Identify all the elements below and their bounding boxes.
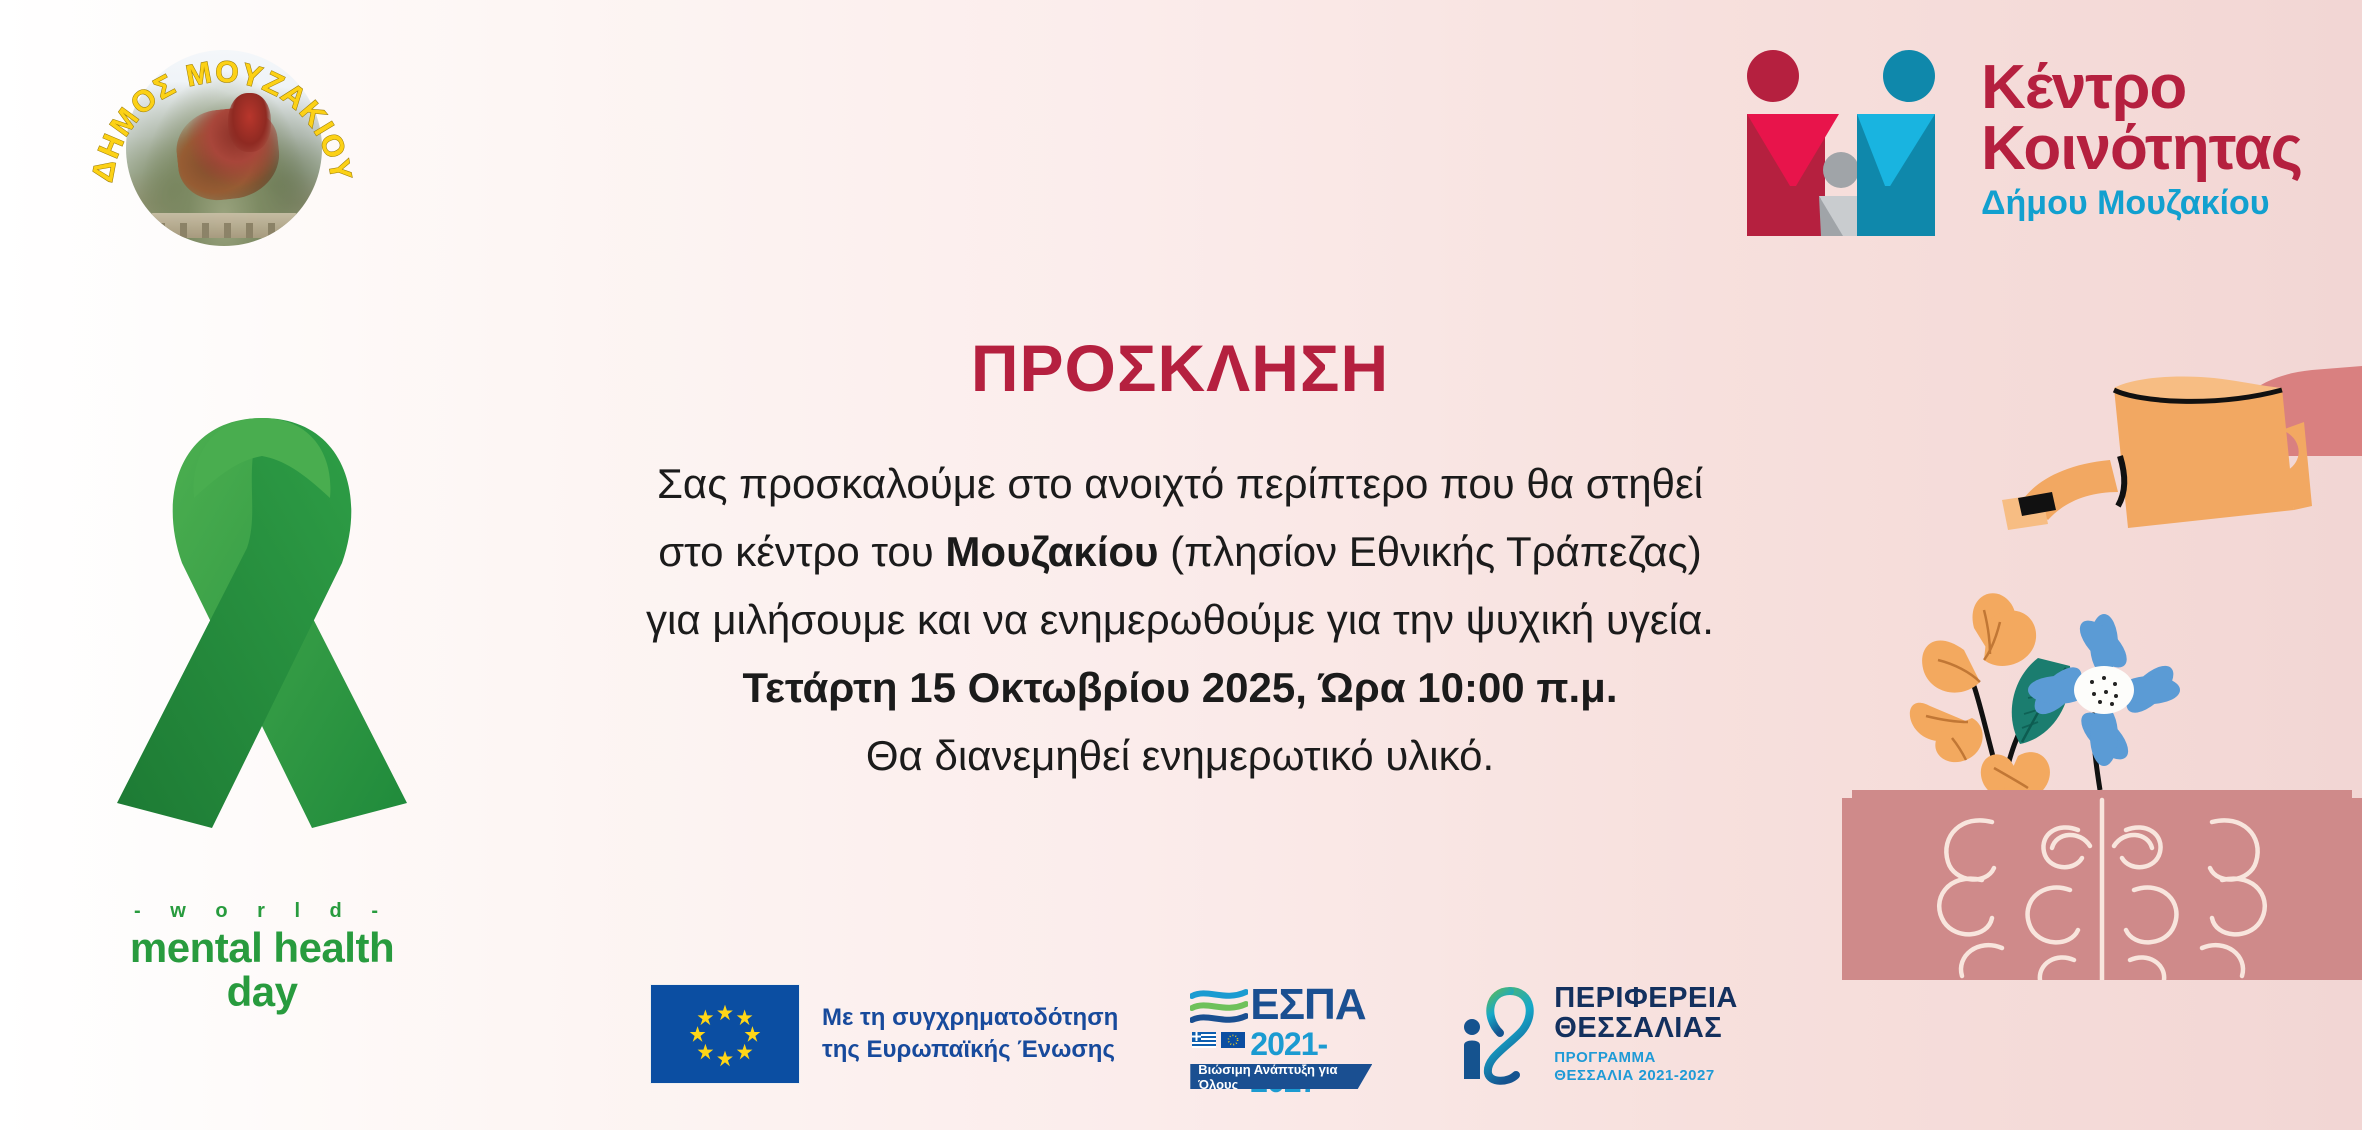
eu-mini-flag-icon [1221, 1032, 1245, 1048]
line2-place: Μουζακίου [945, 528, 1158, 575]
seal-arc-text: ΔΗΜΟΣ ΜΟΥΖΑΚΙΟΥ [86, 22, 358, 272]
region-line4: ΘΕΣΣΑΛΙΑ 2021-2027 [1554, 1067, 1738, 1085]
wmh-world-label: - w o r l d - [62, 900, 462, 923]
region-line3: ΠΡΟΓΡΑΜΜΑ [1554, 1049, 1738, 1067]
kk-line2: Κοινότητας [1981, 119, 2302, 180]
espa-mini-flags [1192, 1032, 1245, 1048]
seal-name-text: ΔΗΜΟΣ ΜΟΥΖΑΚΙΟΥ [86, 56, 358, 185]
eu-text-line2: της Ευρωπαϊκής Ένωσης [822, 1034, 1118, 1066]
espa-name: ΕΣΠΑ [1250, 980, 1365, 1030]
kk-logo-text: Κέντρο Κοινότητας Δήμου Μουζακίου [1981, 46, 2302, 223]
watering-can-brain-flowers-illustration [1842, 360, 2362, 980]
invitation-line-2: στο κέντρο του Μουζακίου (πλησίον Εθνική… [560, 518, 1800, 586]
funding-logos-strip: Με τη συγχρηματοδότηση της Ευρωπαϊκής Έν… [650, 980, 1738, 1088]
eu-funding-text: Με τη συγχρηματοδότηση της Ευρωπαϊκής Έν… [822, 1002, 1118, 1067]
eu-text-line1: Με τη συγχρηματοδότηση [822, 1002, 1118, 1034]
greece-flag-icon [1192, 1032, 1216, 1048]
invitation-line-3: για μιλήσουμε και να ενημερωθούμε για τη… [560, 586, 1800, 654]
region-thessaly-logo: ΠΕΡΙΦΕΡΕΙΑ ΘΕΣΣΑΛΙΑΣ ΠΡΟΓΡΑΜΜΑ ΘΕΣΣΑΛΙΑ … [1462, 983, 1738, 1086]
invitation-line-1: Σας προσκαλούμε στο ανοιχτό περίπτερο πο… [560, 450, 1800, 518]
line2-post: (πλησίον Εθνικής Τράπεζας) [1159, 528, 1702, 575]
family-figures-icon [1731, 46, 1951, 236]
kk-line1: Κέντρο [1981, 58, 2302, 119]
wmh-main-label: mental health [62, 927, 462, 970]
region-mark-icon [1462, 983, 1538, 1085]
wmh-day-label: day [62, 970, 462, 1014]
eu-funding-logo: Με τη συγχρηματοδότηση της Ευρωπαϊκής Έν… [650, 984, 1118, 1084]
espa-tagline: Βιώσιμη Ανάπτυξη για Όλους [1190, 1064, 1372, 1089]
page-title: ΠΡΟΣΚΛΗΣΗ [560, 330, 1800, 406]
poster-canvas: ΔΗΜΟΣ ΜΟΥΖΑΚΙΟΥ - w o r l d - mental hea… [0, 0, 2362, 1130]
kentro-koinotitas-logo: Κέντρο Κοινότητας Δήμου Μουζακίου [1731, 46, 2302, 236]
espa-logo: ΕΣΠΑ 2021-2027 Βιώσιμη Ανάπτυξη για Όλου… [1190, 980, 1390, 1088]
espa-wave-icon [1190, 986, 1248, 1030]
eu-flag-icon [650, 984, 800, 1084]
kk-line3: Δήμου Μουζακίου [1981, 184, 2302, 223]
svg-text:ΔΗΜΟΣ ΜΟΥΖΑΚΙΟΥ: ΔΗΜΟΣ ΜΟΥΖΑΚΙΟΥ [86, 56, 358, 185]
municipality-seal-logo: ΔΗΜΟΣ ΜΟΥΖΑΚΙΟΥ [86, 22, 358, 272]
region-line2: ΘΕΣΣΑΛΙΑΣ [1554, 1013, 1738, 1043]
invitation-block: ΠΡΟΣΚΛΗΣΗ Σας προσκαλούμε στο ανοιχτό πε… [560, 330, 1800, 790]
world-mental-health-day-wordmark: - w o r l d - mental health day [62, 900, 462, 1014]
awareness-ribbon-icon [62, 398, 462, 898]
invitation-datetime: Τετάρτη 15 Οκτωβρίου 2025, Ώρα 10:00 π.μ… [560, 654, 1800, 722]
region-logo-text: ΠΕΡΙΦΕΡΕΙΑ ΘΕΣΣΑΛΙΑΣ ΠΡΟΓΡΑΜΜΑ ΘΕΣΣΑΛΙΑ … [1554, 983, 1738, 1086]
region-line1: ΠΕΡΙΦΕΡΕΙΑ [1554, 983, 1738, 1013]
invitation-body: Σας προσκαλούμε στο ανοιχτό περίπτερο πο… [560, 450, 1800, 790]
line2-pre: στο κέντρο του [658, 528, 945, 575]
invitation-line-5: Θα διανεμηθεί ενημερωτικό υλικό. [560, 722, 1800, 790]
